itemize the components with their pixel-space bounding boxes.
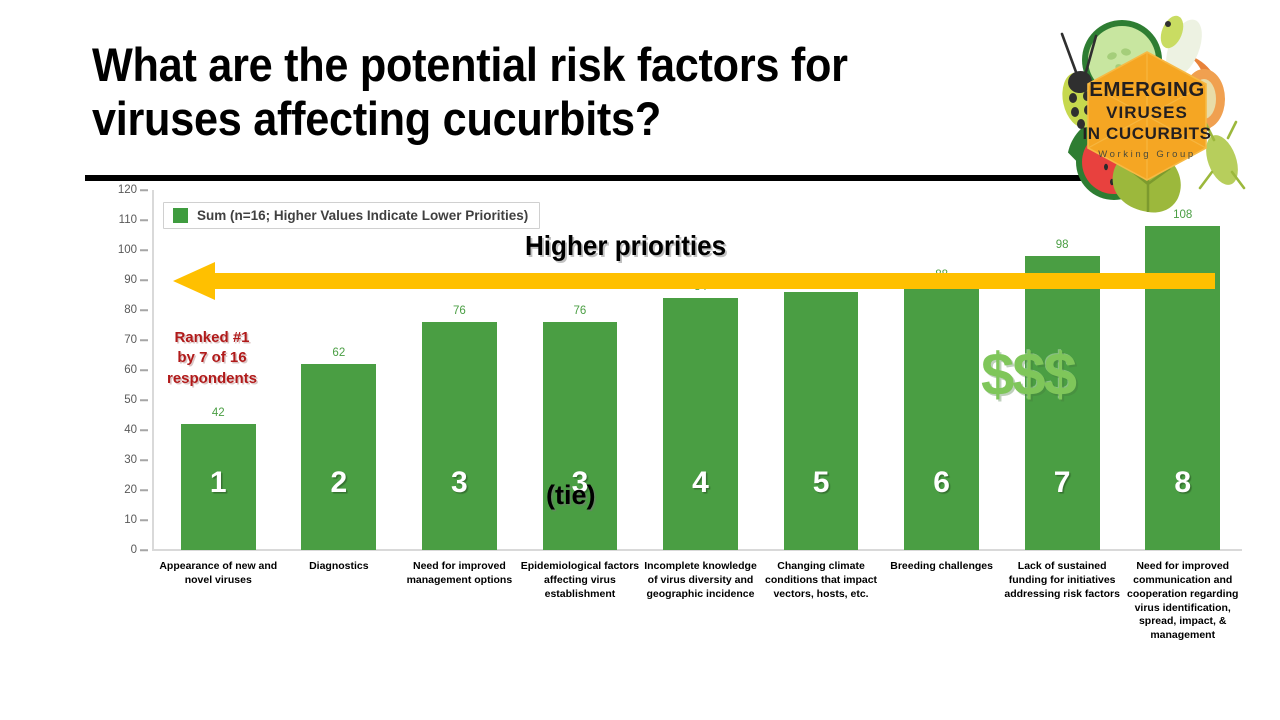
y-axis-tick-label: 10 xyxy=(124,514,137,526)
y-axis-tick-mark xyxy=(140,249,148,251)
bar-value-label: 76 xyxy=(543,305,618,317)
bar-value-label: 98 xyxy=(1025,239,1100,251)
title-underline-rule xyxy=(85,175,1102,181)
y-axis-tick-mark xyxy=(140,429,148,431)
y-axis-tick-mark xyxy=(140,279,148,281)
y-axis-tick-mark xyxy=(140,369,148,371)
x-axis-category-label: Appearance of new and novel viruses xyxy=(158,560,279,588)
emerging-viruses-in-cucurbits-logo: EMERGING VIRUSES IN CUCURBITS Working Gr… xyxy=(1036,12,1258,220)
bar[interactable]: 622 xyxy=(301,364,376,550)
y-axis-tick-label: 60 xyxy=(124,364,137,376)
logo-line3-text: IN CUCURBITS xyxy=(1082,124,1211,143)
legend-swatch-sum xyxy=(173,208,188,223)
y-axis: 1201101009080706050403020100 xyxy=(95,190,153,550)
higher-priorities-arrow xyxy=(173,262,1215,300)
y-axis-tick-mark xyxy=(140,489,148,491)
bar-value-label: 42 xyxy=(181,407,256,419)
title-block: What are the potential risk factors for … xyxy=(92,38,1052,146)
y-axis-tick-mark xyxy=(140,459,148,461)
tie-annotation: (tie) xyxy=(546,480,596,511)
page-title: What are the potential risk factors for … xyxy=(92,38,975,146)
y-axis-tick-mark xyxy=(140,399,148,401)
bar[interactable]: 763 xyxy=(422,322,497,550)
x-axis-labels: Appearance of new and novel virusesDiagn… xyxy=(158,554,1243,672)
bar[interactable]: 844 xyxy=(663,298,738,550)
legend-label-sum: Sum (n=16; Higher Values Indicate Lower … xyxy=(197,208,528,223)
chart-legend: Sum (n=16; Higher Values Indicate Lower … xyxy=(163,202,540,229)
bar-column[interactable]: 865 xyxy=(784,190,859,550)
y-axis-tick-mark xyxy=(140,189,148,191)
bar-value-label: 108 xyxy=(1145,209,1220,221)
bar-rank-label: 8 xyxy=(1174,468,1191,498)
y-axis-tick-mark xyxy=(140,309,148,311)
bar-chart: 1201101009080706050403020100 42162276376… xyxy=(95,190,1255,675)
x-axis-category-label: Lack of sustained funding for initiative… xyxy=(1002,560,1123,602)
bar-column[interactable]: 1088 xyxy=(1145,190,1220,550)
x-axis-category-label: Diagnostics xyxy=(279,560,400,574)
y-axis-tick-label: 110 xyxy=(119,214,137,226)
logo-line1-text: EMERGING xyxy=(1089,78,1205,101)
bar-value-label: 62 xyxy=(301,347,376,359)
y-axis-tick-label: 40 xyxy=(124,424,137,436)
higher-priorities-label: Higher priorities xyxy=(525,230,726,262)
y-axis-tick-label: 20 xyxy=(124,484,137,496)
y-axis-tick-label: 90 xyxy=(124,274,137,286)
y-axis-tick-label: 120 xyxy=(118,184,137,196)
y-axis-tick-label: 70 xyxy=(124,334,137,346)
bar-rank-label: 3 xyxy=(451,468,468,498)
y-axis-tick-mark xyxy=(140,339,148,341)
y-axis-tick-label: 30 xyxy=(124,454,137,466)
bar[interactable]: 865 xyxy=(784,292,859,550)
y-axis-tick-label: 0 xyxy=(131,544,137,556)
bar[interactable]: 886 xyxy=(904,286,979,550)
slide-canvas: What are the potential risk factors for … xyxy=(0,0,1280,720)
y-axis-tick-mark xyxy=(140,549,148,551)
bar-rank-label: 2 xyxy=(330,468,347,498)
bar-rank-label: 5 xyxy=(813,468,830,498)
x-axis-category-label: Breeding challenges xyxy=(881,560,1002,574)
x-axis-category-label: Changing climate conditions that impact … xyxy=(761,560,882,602)
bar-rank-label: 1 xyxy=(210,468,227,498)
bar-rank-label: 4 xyxy=(692,468,709,498)
logo-line2-text: VIRUSES xyxy=(1106,103,1188,122)
y-axis-tick-mark xyxy=(140,519,148,521)
y-axis-tick-label: 50 xyxy=(124,394,137,406)
ranked-first-annotation: Ranked #1 by 7 of 16 respondents xyxy=(153,328,271,389)
logo-line4-text: Working Group xyxy=(1098,149,1196,160)
bar[interactable]: 763 xyxy=(543,322,618,550)
bar-column[interactable]: 763 xyxy=(422,190,497,550)
x-axis-category-label: Need for improved management options xyxy=(399,560,520,588)
bar-rank-label: 6 xyxy=(933,468,950,498)
funding-dollars-annotation: $$$ xyxy=(968,345,1088,405)
x-axis-category-label: Need for improved communication and coop… xyxy=(1122,560,1243,643)
bar-rank-label: 7 xyxy=(1054,468,1071,498)
x-axis-category-label: Incomplete knowledge of virus diversity … xyxy=(640,560,761,602)
x-axis-category-label: Epidemiological factors affecting virus … xyxy=(520,560,641,602)
y-axis-tick-label: 100 xyxy=(118,244,137,256)
bar-column[interactable]: 622 xyxy=(301,190,376,550)
bar[interactable]: 421 xyxy=(181,424,256,550)
bar-value-label: 76 xyxy=(422,305,497,317)
y-axis-tick-mark xyxy=(140,219,148,221)
y-axis-tick-label: 80 xyxy=(124,304,137,316)
